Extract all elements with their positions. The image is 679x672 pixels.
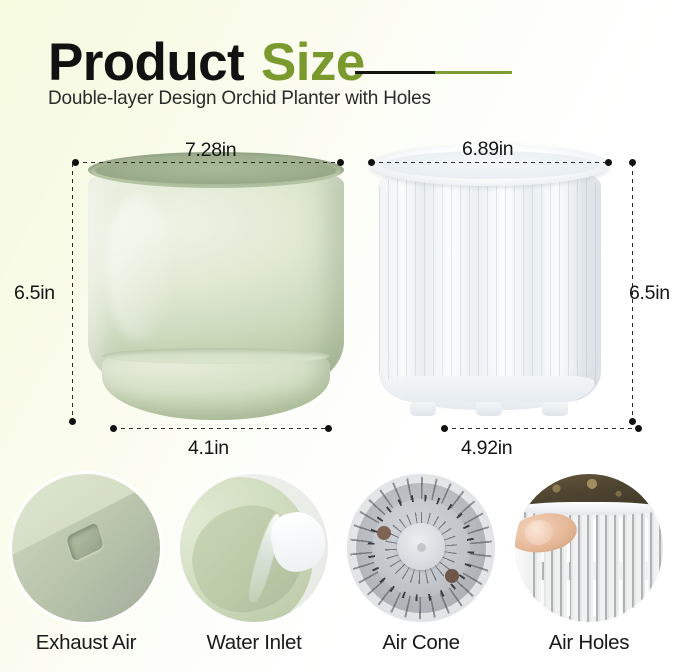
clear-inner-liner-illustration xyxy=(370,144,610,422)
feature-caption: Air Cone xyxy=(341,631,501,655)
inner-pot-bottom-diameter-label: 4.92in xyxy=(461,437,512,460)
title-divider-rule xyxy=(355,71,512,74)
liner-foot xyxy=(542,402,568,416)
water-inlet-thumbnail xyxy=(180,474,328,622)
feature-water-inlet: Water Inlet xyxy=(174,474,334,655)
title-main-word: Product xyxy=(48,36,244,89)
header: Product Size Double-layer Design Orchid … xyxy=(0,0,679,130)
dim-dot xyxy=(110,425,117,432)
outer-pot-height-dimension-line xyxy=(72,163,73,421)
dim-dot xyxy=(337,159,344,166)
divider-dark-segment xyxy=(355,71,435,74)
liner-rim xyxy=(515,502,663,515)
outer-pot-top-diameter-label: 7.28in xyxy=(185,139,236,162)
feature-caption: Air Holes xyxy=(509,631,669,655)
dim-dot xyxy=(629,159,636,166)
dim-dot xyxy=(629,418,636,425)
feature-thumbnails: Exhaust Air Water Inlet xyxy=(0,474,679,672)
divider-green-segment xyxy=(435,71,512,74)
inner-pot-height-label: 6.5in xyxy=(629,282,670,305)
page-title: Product Size xyxy=(48,36,365,89)
outer-pot-top-dimension-line xyxy=(75,162,341,163)
feature-air-holes: Air Holes xyxy=(509,474,669,655)
outer-pot-bottom-diameter-label: 4.1in xyxy=(188,437,229,460)
page-subtitle: Double-layer Design Orchid Planter with … xyxy=(48,88,431,110)
outer-pot-height-label: 6.5in xyxy=(14,282,55,305)
dim-dot xyxy=(69,418,76,425)
green-outer-pot-illustration xyxy=(88,152,344,427)
inner-pot-top-diameter-label: 6.89in xyxy=(462,138,513,161)
exhaust-air-thumbnail xyxy=(12,474,160,622)
size-diagram: 7.28in 6.5in 4.1in 6.89in 6.5in xyxy=(0,130,679,470)
feature-air-cone: Air Cone xyxy=(341,474,501,655)
product-size-infographic: Product Size Double-layer Design Orchid … xyxy=(0,0,679,672)
title-accent-word: Size xyxy=(261,36,365,89)
inner-pot-bottom-dimension-line xyxy=(444,428,640,429)
feature-exhaust-air: Exhaust Air xyxy=(6,474,166,655)
liner-rib-texture xyxy=(379,172,601,398)
soil-speck xyxy=(377,526,391,540)
dim-dot xyxy=(72,159,79,166)
soil-speck xyxy=(445,569,459,583)
liner-foot xyxy=(476,402,502,416)
dim-dot xyxy=(368,159,375,166)
feature-caption: Water Inlet xyxy=(174,631,334,655)
liner-foot xyxy=(410,402,436,416)
dim-dot xyxy=(635,425,642,432)
feature-caption: Exhaust Air xyxy=(6,631,166,655)
outer-pot-bottom-dimension-line xyxy=(113,428,329,429)
pot-saucer-lip xyxy=(102,348,330,364)
air-holes-thumbnail xyxy=(515,474,663,622)
inner-pot-top-dimension-line xyxy=(371,162,609,163)
dim-dot xyxy=(441,425,448,432)
air-cone-thumbnail xyxy=(347,474,495,622)
dim-dot xyxy=(325,425,332,432)
dim-dot xyxy=(605,159,612,166)
